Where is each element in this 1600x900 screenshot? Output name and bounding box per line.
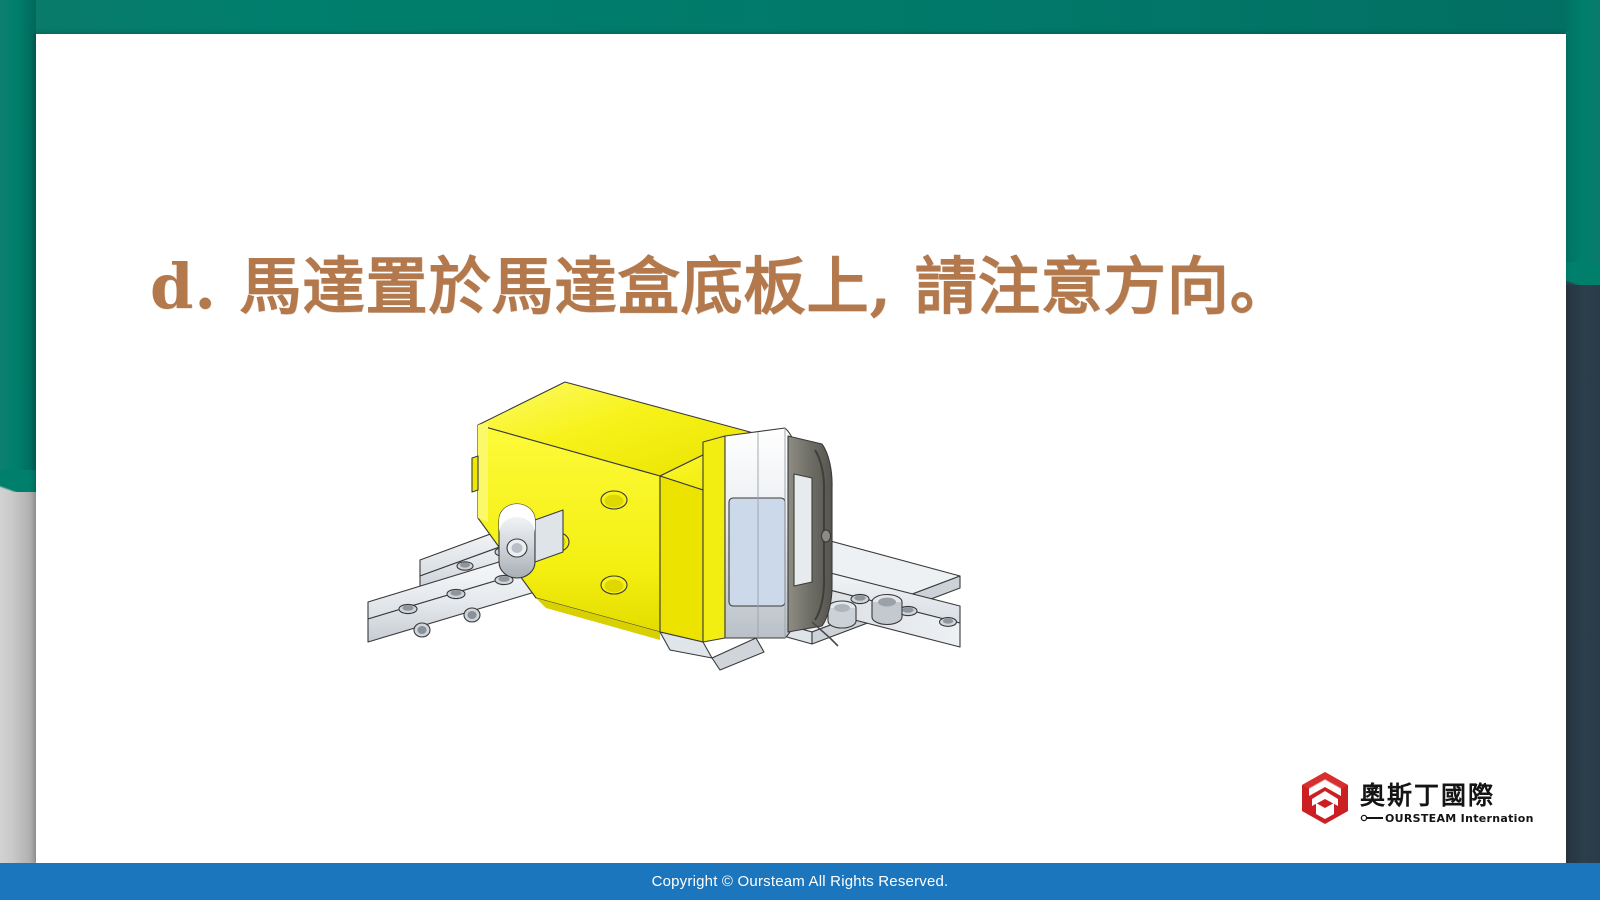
motor-can <box>703 428 838 646</box>
copyright-text: Copyright © Oursteam All Rights Reserved… <box>652 873 949 890</box>
hexagon-cube-icon <box>1302 772 1348 824</box>
motor-assembly-illustration <box>360 370 1040 680</box>
logo-rule-circle <box>1361 815 1366 820</box>
decor-band-left-gray <box>0 492 36 867</box>
decor-band-right-navy <box>1566 285 1600 865</box>
decor-band-right-teal <box>1566 0 1600 300</box>
company-logo: 奧斯丁國際 OURSTEAM International <box>1298 770 1533 828</box>
logo-en-name: OURSTEAM International <box>1385 812 1533 825</box>
decor-band-left-teal <box>0 0 36 505</box>
footer-bar: Copyright © Oursteam All Rights Reserved… <box>0 863 1600 900</box>
decor-band-top <box>0 0 1600 34</box>
logo-cn-name: 奧斯丁國際 <box>1360 781 1495 810</box>
slide-title: d. 馬達置於馬達盒底板上, 請注意方向。 <box>150 236 1350 326</box>
presentation-slide: d. 馬達置於馬達盒底板上, 請注意方向。 <box>0 0 1600 900</box>
